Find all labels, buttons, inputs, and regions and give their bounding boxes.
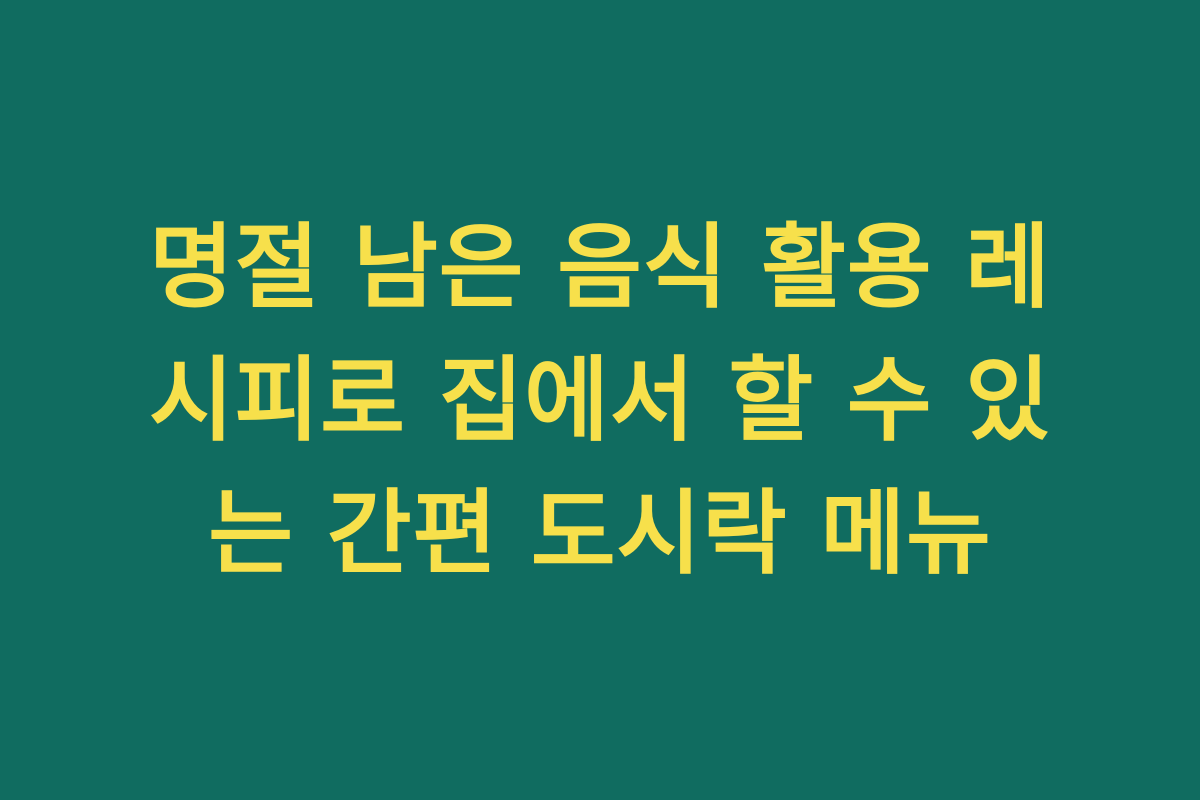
page-title: 명절 남은 음식 활용 레 시피로 집에서 할 수 있 는 간편 도시락 메뉴 — [100, 201, 1100, 600]
headline-line-1: 명절 남은 음식 활용 레 — [100, 201, 1100, 334]
headline-line-3: 는 간편 도시락 메뉴 — [100, 467, 1100, 600]
title-card: 명절 남은 음식 활용 레 시피로 집에서 할 수 있 는 간편 도시락 메뉴 — [0, 0, 1200, 800]
headline-line-2: 시피로 집에서 할 수 있 — [100, 334, 1100, 467]
